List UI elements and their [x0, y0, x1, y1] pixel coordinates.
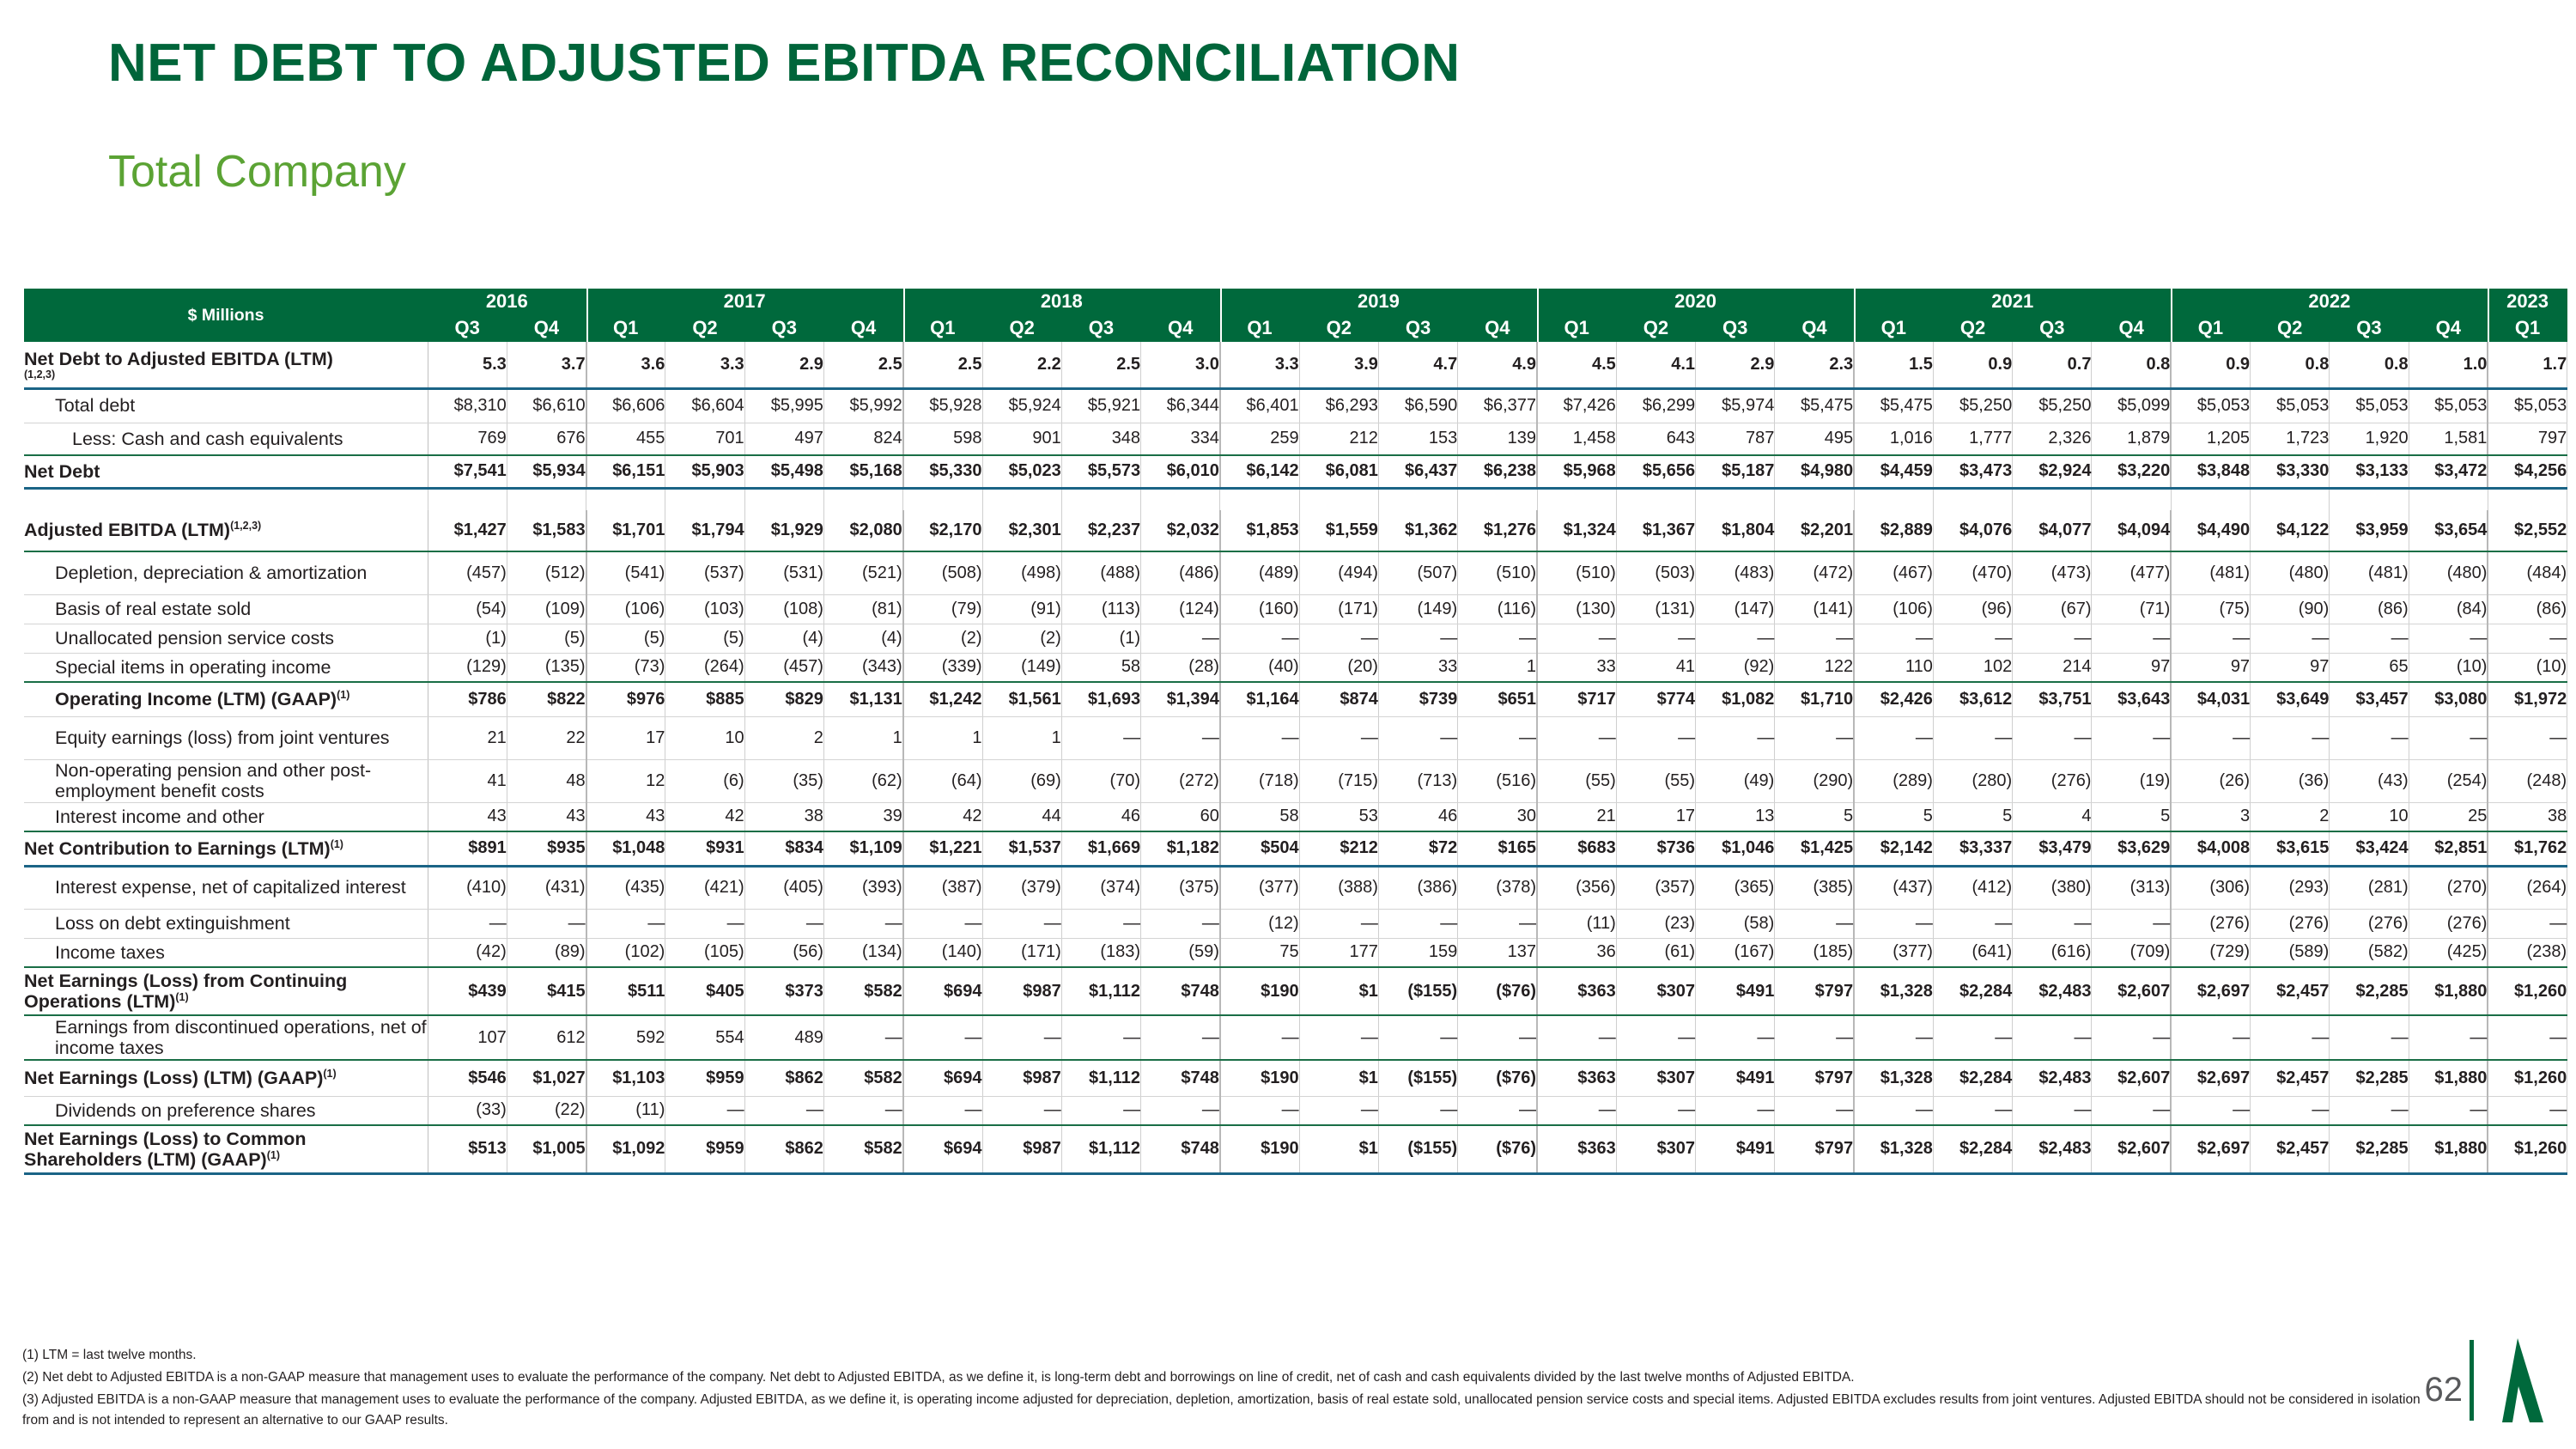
table-cell: $4,459: [1854, 455, 1933, 488]
table-cell: $2,607: [2092, 967, 2171, 1015]
table-cell: (489): [1220, 551, 1299, 594]
table-cell: —: [1220, 1096, 1299, 1125]
table-cell: $5,974: [1696, 388, 1775, 423]
table-cell: $748: [1141, 1060, 1220, 1096]
table-cell: $3,629: [2092, 831, 2171, 866]
table-cell: $511: [586, 967, 665, 1015]
year-label-2019: 2019: [1220, 289, 1537, 314]
table-cell: 824: [823, 423, 902, 455]
table-row: Interest expense, net of capitalized int…: [24, 866, 2567, 909]
quarter-label-2020-Q3: Q3: [1696, 314, 1775, 342]
table-cell: 769: [428, 423, 507, 455]
table-cell: $1,583: [507, 510, 586, 551]
table-cell: (149): [1378, 594, 1457, 624]
table-cell: 30: [1458, 802, 1537, 831]
table-cell: 1,458: [1537, 423, 1616, 455]
table-cell: $3,457: [2330, 682, 2409, 716]
table-cell: 107: [428, 1015, 507, 1060]
table-cell: (22): [507, 1096, 586, 1125]
table-cell: 0.9: [1933, 342, 2012, 388]
table-cell: —: [1378, 716, 1457, 759]
table-cell: (129): [428, 653, 507, 682]
table-cell: $1,794: [665, 510, 744, 551]
table-cell: (276): [2330, 909, 2409, 938]
table-cell: $3,337: [1933, 831, 2012, 866]
table-cell: $5,053: [2409, 388, 2488, 423]
table-cell: (171): [982, 938, 1061, 967]
table-cell: 489: [744, 1015, 823, 1060]
table-cell: (36): [2251, 759, 2330, 802]
table-cell: (86): [2330, 594, 2409, 624]
table-cell: (90): [2251, 594, 2330, 624]
table-cell: $6,142: [1220, 455, 1299, 488]
table-cell: $3,473: [1933, 455, 2012, 488]
table-cell: $5,250: [1933, 388, 2012, 423]
table-cell: —: [1696, 624, 1775, 653]
table-cell: (457): [428, 551, 507, 594]
quarter-label-2019-Q1: Q1: [1220, 314, 1299, 342]
table-cell: $6,299: [1616, 388, 1695, 423]
table-cell: 4.5: [1537, 342, 1616, 388]
table-cell: $1,669: [1061, 831, 1140, 866]
table-cell: 153: [1378, 423, 1457, 455]
table-cell: (102): [586, 938, 665, 967]
table-cell: —: [903, 1096, 982, 1125]
quarter-label-2020-Q1: Q1: [1537, 314, 1616, 342]
table-cell: (91): [982, 594, 1061, 624]
table-cell: 38: [744, 802, 823, 831]
table-cell: $6,437: [1378, 455, 1457, 488]
table-cell: (73): [586, 653, 665, 682]
financial-table-container: $ Millions201620172018201920202021202220…: [24, 289, 2567, 1175]
page-number: 62: [2425, 1371, 2464, 1409]
table-cell: $6,293: [1299, 388, 1378, 423]
table-cell: $1,131: [823, 682, 902, 716]
table-cell: 1,777: [1933, 423, 2012, 455]
table-cell: (64): [903, 759, 982, 802]
table-cell: (28): [1141, 653, 1220, 682]
table-cell: (81): [823, 594, 902, 624]
table-cell: —: [744, 909, 823, 938]
table-cell: —: [2488, 1096, 2567, 1125]
table-row: Dividends on preference shares(33)(22)(1…: [24, 1096, 2567, 1125]
table-cell: $5,995: [744, 388, 823, 423]
table-cell: (339): [903, 653, 982, 682]
table-cell: —: [1061, 1096, 1140, 1125]
table-cell: $3,615: [2251, 831, 2330, 866]
table-cell: $2,284: [1933, 1060, 2012, 1096]
table-cell: —: [2409, 716, 2488, 759]
table-cell: 1.0: [2409, 342, 2488, 388]
table-cell: $5,053: [2171, 388, 2250, 423]
table-cell: (43): [2330, 759, 2409, 802]
table-cell: (12): [1220, 909, 1299, 938]
table-cell: (641): [1933, 938, 2012, 967]
table-cell: 1,581: [2409, 423, 2488, 455]
table-row: Depletion, depreciation & amortization(4…: [24, 551, 2567, 594]
table-cell: $1,394: [1141, 682, 1220, 716]
table-cell: (472): [1775, 551, 1854, 594]
table-cell: $3,424: [2330, 831, 2409, 866]
table-cell: (20): [1299, 653, 1378, 682]
table-cell: $491: [1696, 1125, 1775, 1173]
table-cell: (531): [744, 551, 823, 594]
spacer-cell: [428, 488, 507, 510]
table-cell: 1,723: [2251, 423, 2330, 455]
table-cell: (537): [665, 551, 744, 594]
table-cell: (276): [2171, 909, 2250, 938]
table-cell: —: [1854, 1015, 1933, 1060]
quarter-label-2022-Q2: Q2: [2251, 314, 2330, 342]
table-cell: 0.8: [2330, 342, 2409, 388]
table-cell: (412): [1933, 866, 2012, 909]
row-label: Net Debt to Adjusted EBITDA (LTM)(1,2,3): [24, 342, 428, 388]
table-cell: $1,276: [1458, 510, 1537, 551]
table-cell: $3,612: [1933, 682, 2012, 716]
table-cell: (4): [823, 624, 902, 653]
table-cell: (483): [1696, 551, 1775, 594]
table-cell: 0.8: [2092, 342, 2171, 388]
table-cell: 901: [982, 423, 1061, 455]
table-cell: $4,122: [2251, 510, 2330, 551]
table-cell: $797: [1775, 967, 1854, 1015]
table-cell: $513: [428, 1125, 507, 1173]
table-cell: —: [2013, 1015, 2092, 1060]
table-cell: —: [1775, 624, 1854, 653]
table-cell: 75: [1220, 938, 1299, 967]
quarter-label-2021-Q4: Q4: [2092, 314, 2171, 342]
table-cell: (435): [586, 866, 665, 909]
table-cell: $5,099: [2092, 388, 2171, 423]
table-cell: $2,142: [1854, 831, 1933, 866]
table-cell: —: [1537, 1096, 1616, 1125]
table-cell: (89): [507, 938, 586, 967]
table-cell: 43: [507, 802, 586, 831]
quarter-label-2017-Q1: Q1: [586, 314, 665, 342]
table-cell: —: [1299, 716, 1378, 759]
table-cell: (521): [823, 551, 902, 594]
quarter-label-2020-Q2: Q2: [1616, 314, 1695, 342]
table-cell: $829: [744, 682, 823, 716]
table-cell: $1,972: [2488, 682, 2567, 716]
table-cell: (589): [2251, 938, 2330, 967]
spacer-cell: [744, 488, 823, 510]
table-cell: —: [982, 909, 1061, 938]
table-row: Net Debt to Adjusted EBITDA (LTM)(1,2,3)…: [24, 342, 2567, 388]
table-cell: 797: [2488, 423, 2567, 455]
table-cell: —: [2171, 624, 2250, 653]
table-cell: $5,475: [1775, 388, 1854, 423]
table-cell: $1,221: [903, 831, 982, 866]
table-body: Net Debt to Adjusted EBITDA (LTM)(1,2,3)…: [24, 342, 2567, 1173]
table-row: Net Earnings (Loss) from Continuing Oper…: [24, 967, 2567, 1015]
table-cell: (54): [428, 594, 507, 624]
year-label-2018: 2018: [903, 289, 1220, 314]
table-cell: $415: [507, 967, 586, 1015]
table-cell: $2,607: [2092, 1060, 2171, 1096]
table-cell: $2,851: [2409, 831, 2488, 866]
table-cell: (26): [2171, 759, 2250, 802]
table-cell: $5,187: [1696, 455, 1775, 488]
table-cell: (498): [982, 551, 1061, 594]
table-cell: (71): [2092, 594, 2171, 624]
table-cell: (264): [2488, 866, 2567, 909]
table-row: Equity earnings (loss) from joint ventur…: [24, 716, 2567, 759]
table-cell: —: [1378, 624, 1457, 653]
table-cell: 212: [1299, 423, 1378, 455]
table-cell: $439: [428, 967, 507, 1015]
table-cell: $2,483: [2013, 1060, 2092, 1096]
table-cell: —: [1141, 716, 1220, 759]
table-cell: $5,924: [982, 388, 1061, 423]
table-cell: (473): [2013, 551, 2092, 594]
table-cell: (480): [2251, 551, 2330, 594]
table-cell: $6,238: [1458, 455, 1537, 488]
table-cell: 2: [744, 716, 823, 759]
table-cell: $1,328: [1854, 1125, 1933, 1173]
table-cell: $1,693: [1061, 682, 1140, 716]
row-label: Basis of real estate sold: [24, 594, 428, 624]
table-cell: (481): [2171, 551, 2250, 594]
row-label: Net Earnings (Loss) from Continuing Oper…: [24, 967, 428, 1015]
table-cell: (19): [2092, 759, 2171, 802]
table-cell: 592: [586, 1015, 665, 1060]
quarter-label-2020-Q4: Q4: [1775, 314, 1854, 342]
table-cell: $2,201: [1775, 510, 1854, 551]
row-label: Earnings from discontinued operations, n…: [24, 1015, 428, 1060]
table-cell: 10: [665, 716, 744, 759]
table-cell: 46: [1378, 802, 1457, 831]
table-cell: (729): [2171, 938, 2250, 967]
table-cell: (171): [1299, 594, 1378, 624]
table-cell: $774: [1616, 682, 1695, 716]
table-cell: —: [2092, 624, 2171, 653]
table-cell: (33): [428, 1096, 507, 1125]
table-cell: $651: [1458, 682, 1537, 716]
table-cell: $717: [1537, 682, 1616, 716]
table-cell: $2,457: [2251, 967, 2330, 1015]
table-cell: (293): [2251, 866, 2330, 909]
table-cell: 2.5: [823, 342, 902, 388]
table-cell: ($76): [1458, 1060, 1537, 1096]
table-cell: (357): [1616, 866, 1695, 909]
spacer-cell: [2409, 488, 2488, 510]
table-row: Net Earnings (Loss) (LTM) (GAAP)(1)$546$…: [24, 1060, 2567, 1096]
row-label: Loss on debt extinguishment: [24, 909, 428, 938]
quarter-label-2018-Q4: Q4: [1141, 314, 1220, 342]
row-label: Special items in operating income: [24, 653, 428, 682]
row-label: Unallocated pension service costs: [24, 624, 428, 653]
table-cell: $582: [823, 1060, 902, 1096]
table-cell: 612: [507, 1015, 586, 1060]
row-label: Less: Cash and cash equivalents: [24, 423, 428, 455]
table-cell: (718): [1220, 759, 1299, 802]
table-cell: $3,654: [2409, 510, 2488, 551]
table-cell: 42: [903, 802, 982, 831]
table-cell: 497: [744, 423, 823, 455]
quarter-label-2022-Q1: Q1: [2171, 314, 2250, 342]
table-cell: (387): [903, 866, 982, 909]
table-cell: (616): [2013, 938, 2092, 967]
page-subtitle: Total Company: [108, 146, 406, 198]
table-cell: $1,880: [2409, 1125, 2488, 1173]
table-cell: —: [1220, 1015, 1299, 1060]
table-cell: $1,103: [586, 1060, 665, 1096]
table-cell: —: [2251, 624, 2330, 653]
table-cell: (388): [1299, 866, 1378, 909]
table-cell: —: [2013, 909, 2092, 938]
table-cell: $3,751: [2013, 682, 2092, 716]
table-cell: —: [1141, 1015, 1220, 1060]
table-cell: $1,005: [507, 1125, 586, 1173]
row-label: Interest expense, net of capitalized int…: [24, 866, 428, 909]
table-cell: $1,328: [1854, 1060, 1933, 1096]
table-cell: (508): [903, 551, 982, 594]
quarter-label-2018-Q2: Q2: [982, 314, 1061, 342]
table-cell: $1,260: [2488, 967, 2567, 1015]
table-cell: $4,031: [2171, 682, 2250, 716]
table-cell: $5,168: [823, 455, 902, 488]
table-cell: —: [982, 1096, 1061, 1125]
table-cell: (2): [903, 624, 982, 653]
table-cell: 38: [2488, 802, 2567, 831]
table-cell: 65: [2330, 653, 2409, 682]
table-cell: $1,112: [1061, 1060, 1140, 1096]
table-cell: (10): [2488, 653, 2567, 682]
spacer-cell: [2013, 488, 2092, 510]
table-cell: 0.9: [2171, 342, 2250, 388]
footnote-ref: (1): [267, 1149, 280, 1161]
table-cell: $363: [1537, 1060, 1616, 1096]
table-cell: $3,220: [2092, 455, 2171, 488]
table-cell: $1: [1299, 967, 1378, 1015]
table-cell: 137: [1458, 938, 1537, 967]
spacer-cell: [24, 488, 428, 510]
table-cell: (96): [1933, 594, 2012, 624]
table-header: $ Millions201620172018201920202021202220…: [24, 289, 2567, 342]
table-cell: 2.9: [1696, 342, 1775, 388]
table-cell: 25: [2409, 802, 2488, 831]
table-cell: $5,921: [1061, 388, 1140, 423]
table-cell: $959: [665, 1060, 744, 1096]
table-cell: (380): [2013, 866, 2092, 909]
table-cell: $2,285: [2330, 1125, 2409, 1173]
table-cell: $3,080: [2409, 682, 2488, 716]
table-cell: $4,076: [1933, 510, 2012, 551]
table-cell: —: [1933, 624, 2012, 653]
spacer-cell: [2330, 488, 2409, 510]
table-cell: (2): [982, 624, 1061, 653]
table-cell: (55): [1616, 759, 1695, 802]
table-cell: —: [823, 1015, 902, 1060]
table-cell: $6,151: [586, 455, 665, 488]
table-cell: 5: [2092, 802, 2171, 831]
table-cell: (276): [2409, 909, 2488, 938]
table-cell: $694: [903, 1060, 982, 1096]
table-cell: $2,457: [2251, 1060, 2330, 1096]
page-title: NET DEBT TO ADJUSTED EBITDA RECONCILIATI…: [108, 33, 1460, 94]
table-cell: —: [1299, 624, 1378, 653]
table-cell: $491: [1696, 1060, 1775, 1096]
table-cell: (270): [2409, 866, 2488, 909]
table-cell: 1,879: [2092, 423, 2171, 455]
table-cell: $5,573: [1061, 455, 1140, 488]
table-cell: (715): [1299, 759, 1378, 802]
table-cell: 5: [1854, 802, 1933, 831]
table-cell: (254): [2409, 759, 2488, 802]
table-cell: $5,475: [1854, 388, 1933, 423]
table-cell: 159: [1378, 938, 1457, 967]
table-cell: $190: [1220, 1060, 1299, 1096]
table-cell: $1,027: [507, 1060, 586, 1096]
table-cell: $694: [903, 967, 982, 1015]
table-cell: 33: [1378, 653, 1457, 682]
row-label: Operating Income (LTM) (GAAP)(1): [24, 682, 428, 716]
spacer-cell: [1616, 488, 1695, 510]
table-cell: 214: [2013, 653, 2092, 682]
table-cell: $5,903: [665, 455, 744, 488]
table-cell: (58): [1696, 909, 1775, 938]
table-cell: (167): [1696, 938, 1775, 967]
table-cell: 3.3: [1220, 342, 1299, 388]
quarter-label-2021-Q2: Q2: [1933, 314, 2012, 342]
table-cell: $1,367: [1616, 510, 1695, 551]
spacer-cell: [1220, 488, 1299, 510]
row-label: Total debt: [24, 388, 428, 423]
table-cell: —: [2488, 624, 2567, 653]
table-cell: —: [1299, 909, 1378, 938]
table-cell: (477): [2092, 551, 2171, 594]
table-cell: —: [1537, 716, 1616, 759]
table-cell: —: [1537, 1015, 1616, 1060]
table-cell: 787: [1696, 423, 1775, 455]
table-cell: 58: [1061, 653, 1140, 682]
table-cell: (183): [1061, 938, 1140, 967]
table-cell: —: [2330, 1015, 2409, 1060]
spacer-cell: [1061, 488, 1140, 510]
table-cell: 495: [1775, 423, 1854, 455]
table-cell: —: [2171, 1015, 2250, 1060]
table-cell: (40): [1220, 653, 1299, 682]
table-cell: —: [1458, 716, 1537, 759]
table-cell: 97: [2092, 653, 2171, 682]
table-cell: $2,483: [2013, 1125, 2092, 1173]
spacer-cell: [586, 488, 665, 510]
table-cell: $862: [744, 1125, 823, 1173]
table-cell: $4,077: [2013, 510, 2092, 551]
table-cell: $2,032: [1141, 510, 1220, 551]
table-cell: —: [1141, 909, 1220, 938]
table-cell: (582): [2330, 938, 2409, 967]
table-cell: (512): [507, 551, 586, 594]
table-cell: (248): [2488, 759, 2567, 802]
table-cell: —: [1775, 1096, 1854, 1125]
table-cell: 4: [2013, 802, 2092, 831]
row-label: Adjusted EBITDA (LTM)(1,2,3): [24, 510, 428, 551]
table-cell: $1,260: [2488, 1060, 2567, 1096]
table-cell: —: [1061, 1015, 1140, 1060]
year-header-row: $ Millions201620172018201920202021202220…: [24, 289, 2567, 314]
table-cell: $6,610: [507, 388, 586, 423]
table-cell: —: [1458, 909, 1537, 938]
table-cell: $5,053: [2330, 388, 2409, 423]
table-row: Adjusted EBITDA (LTM)(1,2,3)$1,427$1,583…: [24, 510, 2567, 551]
table-cell: (356): [1537, 866, 1616, 909]
table-row: Unallocated pension service costs(1)(5)(…: [24, 624, 2567, 653]
table-cell: 21: [1537, 802, 1616, 831]
table-cell: $1,260: [2488, 1125, 2567, 1173]
table-cell: $1,880: [2409, 967, 2488, 1015]
